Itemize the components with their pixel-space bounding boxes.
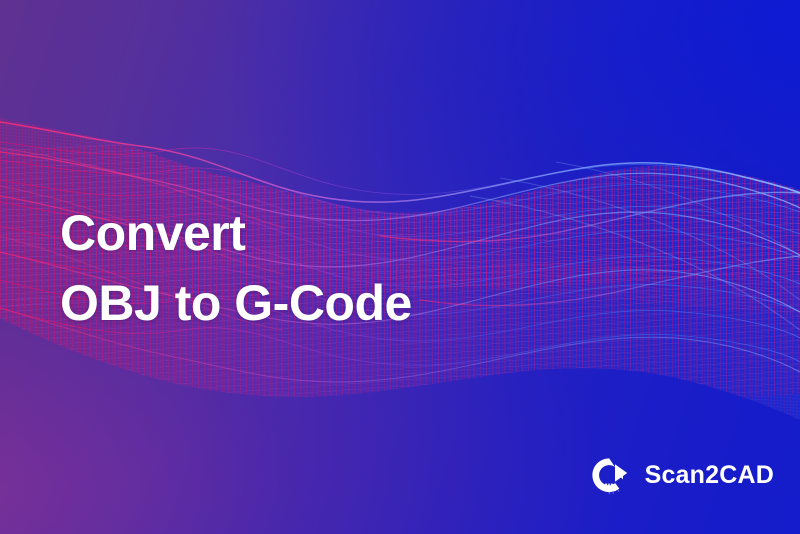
- scan2cad-logo[interactable]: Scan2CAD: [586, 452, 774, 498]
- banner: Convert OBJ to G-Code: [0, 0, 800, 534]
- scan2cad-wordmark: Scan2CAD: [645, 463, 774, 488]
- headline-line-1: Convert: [60, 198, 412, 268]
- scan2cad-circular-arrow-icon: [586, 452, 632, 498]
- page-title: Convert OBJ to G-Code: [60, 198, 412, 338]
- headline-line-2: OBJ to G-Code: [60, 268, 412, 338]
